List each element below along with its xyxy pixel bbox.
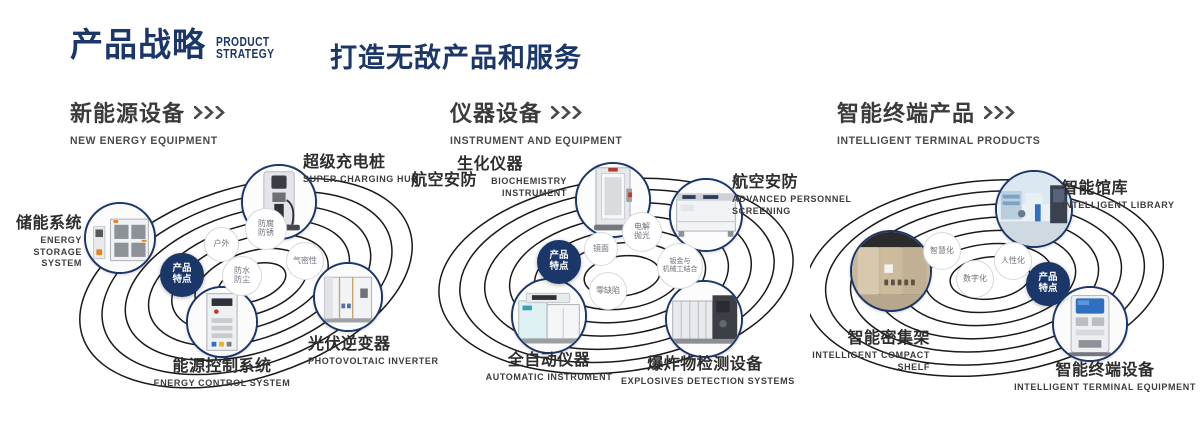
label-energy-control-system: 能源控制系统 ENERGY CONTROL SYSTEM bbox=[117, 358, 327, 390]
energy-control-cabinet-icon bbox=[188, 288, 256, 356]
label-biochemistry-instrument: 生化仪器 BIOCHEMISTRY INSTRUMENT bbox=[457, 156, 567, 199]
section-heading-instrument-and-equipment: 仪器设备 INSTRUMENT AND EQUIPMENT bbox=[450, 96, 631, 147]
label-intelligent-terminal-equipment: 智能终端设备 INTELLIGENT TERMINAL EQUIPMENT bbox=[1010, 362, 1200, 394]
feature-bubble-zero-defect: 零缺陷 bbox=[589, 272, 627, 310]
personnel-screening-machine-icon bbox=[671, 180, 741, 250]
page-title-en: PRODUCT STRATEGY bbox=[216, 36, 274, 60]
self-service-kiosk-icon bbox=[1054, 288, 1126, 360]
feature-bubble-humanization: 人性化 bbox=[994, 242, 1032, 280]
photovoltaic-inverter-cabinet-icon bbox=[315, 264, 381, 330]
cluster-instrument-and-equipment: 航空安防 生化仪器 BIOCHEMISTRY INSTRUMENT bbox=[437, 150, 837, 410]
cluster-new-energy-equipment: 储能系统 ENERGY STORAGE SYSTEM 超级充电桩 SUPER C… bbox=[55, 150, 455, 410]
page-title-cn: 产品战略 bbox=[70, 28, 206, 61]
core-bubble-product-features: 产品 特点 bbox=[1026, 262, 1070, 306]
section-title-cn: 智能终端产品 bbox=[837, 96, 975, 128]
core-bubble-product-features: 产品 特点 bbox=[160, 253, 204, 297]
chevrons-right-icon bbox=[194, 106, 228, 119]
chevrons-right-icon bbox=[984, 106, 1018, 119]
page-subtitle: 打造无敌产品和服务 bbox=[330, 36, 582, 75]
section-title-en: NEW ENERGY EQUIPMENT bbox=[70, 135, 220, 147]
page-title-en-line2: STRATEGY bbox=[216, 48, 274, 60]
feature-bubble-airtight: 气密性 bbox=[286, 242, 324, 280]
node-photovoltaic-inverter[interactable] bbox=[313, 262, 383, 332]
label-explosives-detection-systems: 爆炸物检测设备 EXPLOSIVES DETECTION SYSTEMS bbox=[621, 356, 789, 388]
section-title-en: INSTRUMENT AND EQUIPMENT bbox=[450, 135, 622, 147]
section-heading-intelligent-terminal-products: 智能终端产品 INTELLIGENT TERMINAL PRODUCTS bbox=[837, 96, 1051, 147]
feature-bubble-sheetmetal-machining: 钣金与机械工结合 bbox=[657, 243, 703, 289]
intelligent-library-room-icon bbox=[997, 172, 1071, 246]
node-automatic-instrument[interactable] bbox=[511, 278, 587, 354]
section-title-cn: 新能源设备 bbox=[70, 96, 185, 128]
node-explosives-detection-systems[interactable] bbox=[665, 280, 743, 358]
explosives-detection-unit-icon bbox=[667, 282, 741, 356]
cluster-intelligent-terminal-products: 智能馆库 INTELLIGENT LIBRARY 智能终端设备 INTELLIG… bbox=[810, 150, 1200, 410]
energy-storage-cabinet-icon bbox=[86, 204, 154, 272]
node-energy-control-system[interactable] bbox=[186, 286, 258, 358]
feature-bubble-intelligence: 智慧化 bbox=[923, 232, 961, 270]
compact-shelving-unit-icon bbox=[852, 232, 930, 310]
label-intelligent-compact-shelf: 智能密集架 INTELLIGENT COMPACT SHELF bbox=[780, 330, 930, 373]
node-energy-storage-system[interactable] bbox=[84, 202, 156, 274]
feature-bubble-waterproof: 防水防尘 bbox=[222, 256, 262, 296]
automatic-analyzer-icon bbox=[513, 280, 585, 352]
core-bubble-product-features: 产品 特点 bbox=[537, 240, 581, 284]
feature-bubble-digitalization: 数字化 bbox=[956, 260, 994, 298]
chevrons-right-icon bbox=[551, 106, 585, 119]
section-title-en: INTELLIGENT TERMINAL PRODUCTS bbox=[837, 135, 1040, 147]
poster-canvas: 产品战略 PRODUCT STRATEGY 打造无敌产品和服务 新能源设备 NE… bbox=[0, 0, 1200, 422]
poster-title: 产品战略 PRODUCT STRATEGY bbox=[70, 28, 287, 61]
feature-bubble-mirror-finish: 镜面 bbox=[584, 232, 618, 266]
section-title-cn: 仪器设备 bbox=[450, 96, 542, 128]
label-intelligent-library: 智能馆库 INTELLIGENT LIBRARY bbox=[1062, 180, 1200, 212]
label-automatic-instrument: 全自动仪器 AUTOMATIC INSTRUMENT bbox=[459, 352, 639, 384]
feature-bubble-anticorrosion: 防腐防锈 bbox=[245, 208, 287, 250]
feature-bubble-electropolishing: 电解抛光 bbox=[622, 212, 662, 252]
section-heading-new-energy-equipment: 新能源设备 NEW ENERGY EQUIPMENT bbox=[70, 96, 228, 147]
node-intelligent-compact-shelf[interactable] bbox=[850, 230, 932, 312]
label-energy-storage-system: 储能系统 ENERGY STORAGE SYSTEM bbox=[10, 215, 82, 269]
